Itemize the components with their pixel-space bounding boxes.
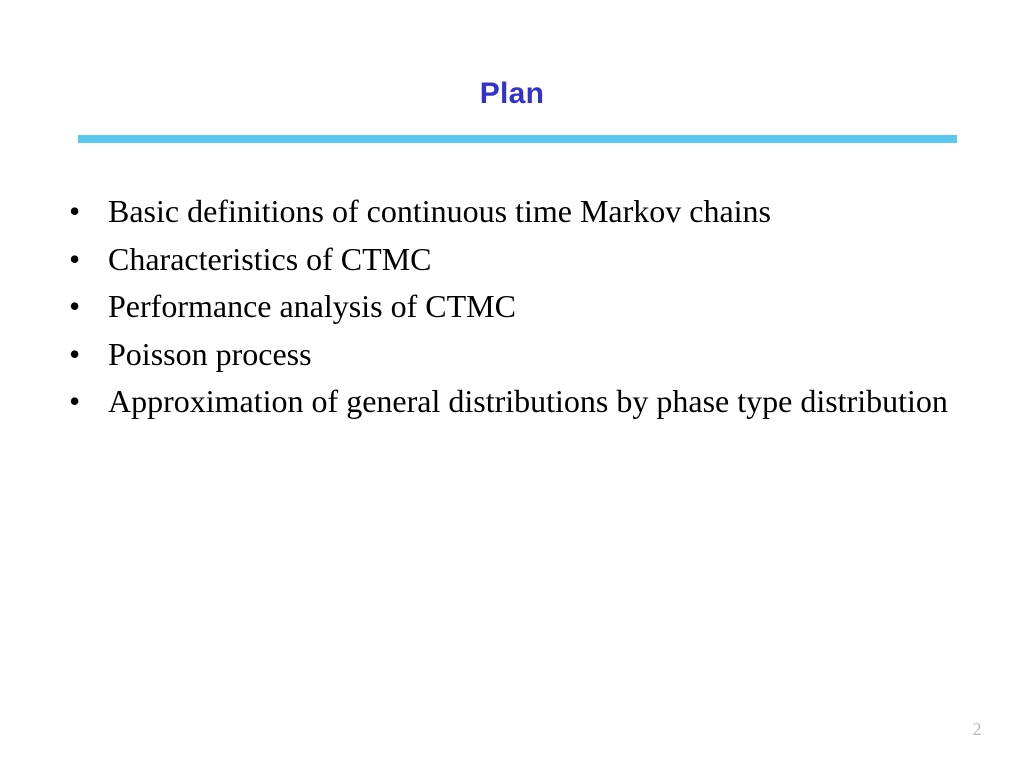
list-item-label: Basic definitions of continuous time Mar… [108,188,988,236]
bullet-point-icon: • [69,378,91,426]
slide-canvas: Plan • Basic definitions of continuous t… [0,0,1024,768]
plan-bullet-list: • Basic definitions of continuous time M… [68,188,988,426]
bullet-point-icon: • [69,188,91,236]
bullet-point-icon: • [69,236,91,284]
list-item: • Characteristics of CTMC [68,236,988,284]
bullet-point-icon: • [69,283,91,331]
list-item-label: Performance analysis of CTMC [108,283,988,331]
list-item-label: Poisson process [108,331,988,379]
list-item-label: Approximation of general distributions b… [108,378,988,426]
bullet-point-icon: • [69,331,91,379]
title-divider-rule [78,135,957,143]
page-title: Plan [0,76,1024,112]
page-number: 2 [960,718,994,740]
list-item: • Basic definitions of continuous time M… [68,188,988,236]
list-item-label: Characteristics of CTMC [108,236,988,284]
list-item: • Poisson process [68,331,988,379]
list-item: • Performance analysis of CTMC [68,283,988,331]
list-item: • Approximation of general distributions… [68,378,988,426]
